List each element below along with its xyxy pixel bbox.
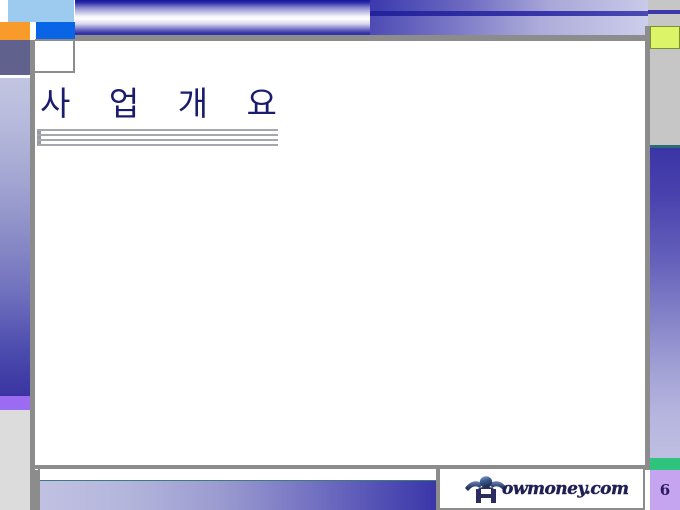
decor-swatch-green — [650, 458, 680, 470]
right-rail-gradient — [650, 148, 680, 458]
title-rule — [37, 129, 278, 131]
logo-lockup: owmoney.com — [462, 473, 642, 506]
title-rule — [37, 134, 278, 136]
page-number: 6 — [650, 472, 680, 508]
decor-swatch-light-blue — [8, 0, 74, 22]
logo-wordmark: owmoney.com — [502, 479, 629, 499]
left-rail-violet-accent — [0, 396, 30, 410]
decor-swatch-orange — [0, 22, 30, 40]
right-rail-grey — [650, 49, 680, 145]
decor-swatch-lime — [650, 26, 680, 49]
header-glossy-bar — [75, 0, 370, 35]
header-right-upper-band — [370, 0, 648, 11]
decor-swatch-slate — [0, 40, 30, 75]
title-rule — [37, 144, 278, 146]
right-divider — [645, 26, 650, 470]
header-corner-stripe — [648, 10, 680, 14]
header-right-lower-band — [370, 16, 648, 35]
decor-swatch-blue — [36, 22, 75, 40]
presentation-slide: 사 업 개 요 — [0, 0, 680, 510]
footer-left-divider — [30, 470, 38, 510]
footer-gradient-band — [40, 481, 436, 510]
title-rule — [37, 139, 278, 141]
left-rail-gradient — [0, 78, 30, 396]
content-top-rule — [35, 39, 645, 41]
title-notch-box — [35, 41, 75, 73]
footer-logo-box: owmoney.com — [438, 469, 645, 510]
footer-left-grey — [0, 470, 30, 510]
title-underline-rules — [37, 129, 278, 147]
page-title: 사 업 개 요 — [40, 84, 460, 124]
